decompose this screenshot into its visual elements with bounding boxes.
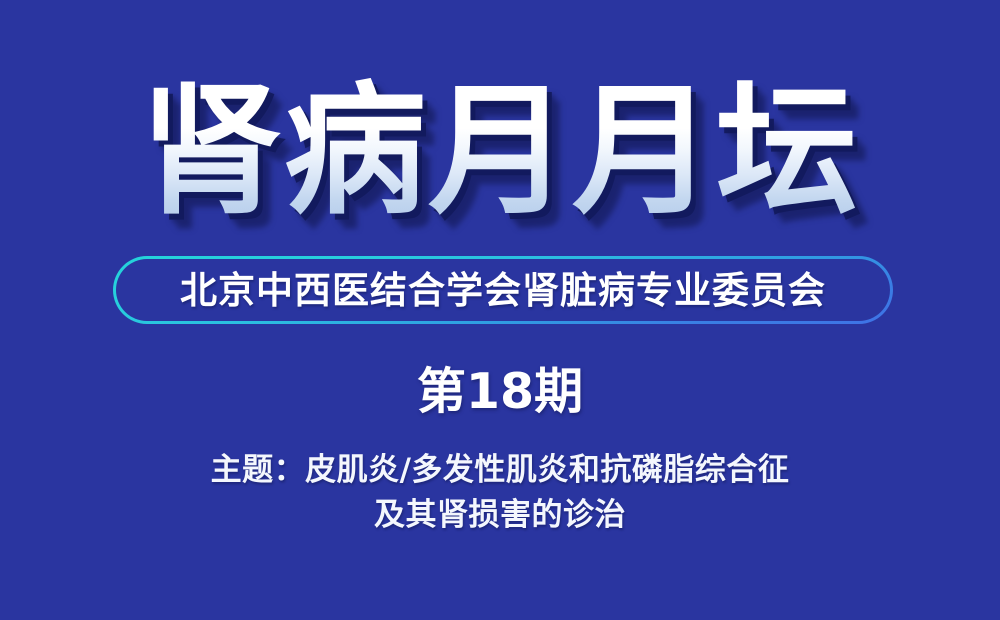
issue-number-label: 第18期 [0,366,1000,417]
poster-canvas: 肾病月月坛 北京中西医结合学会肾脏病专业委员会 第18期 主题：皮肌炎/多发性肌… [0,0,1000,620]
organization-pill: 北京中西医结合学会肾脏病专业委员会 [113,256,893,324]
theme-line-1: 主题：皮肌炎/多发性肌炎和抗磷脂综合征 [0,448,1000,493]
theme-container: 主题：皮肌炎/多发性肌炎和抗磷脂综合征 及其肾损害的诊治 [0,448,1000,538]
page-title: 肾病月月坛 [140,78,860,226]
main-title-container: 肾病月月坛 [0,78,1000,226]
organization-label: 北京中西医结合学会肾脏病专业委员会 [180,272,826,309]
theme-line-2: 及其肾损害的诊治 [0,493,1000,538]
